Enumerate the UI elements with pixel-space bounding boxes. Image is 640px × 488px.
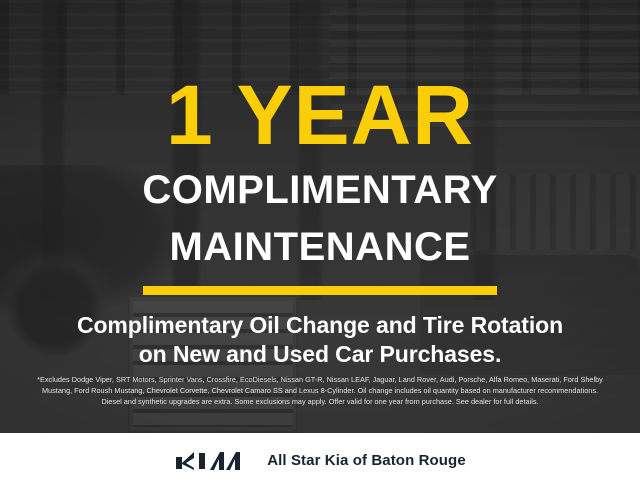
offer-description-line-2: on New and Used Car Purchases.: [139, 340, 502, 369]
offer-description-line-1: Complimentary Oil Change and Tire Rotati…: [77, 311, 563, 340]
headline-maintenance: MAINTENANCE: [169, 227, 470, 269]
hero-content: 1 YEAR COMPLIMENTARY MAINTENANCE Complim…: [0, 0, 640, 433]
footer-bar: All Star Kia of Baton Rouge: [0, 433, 640, 488]
accent-divider: [143, 286, 497, 295]
disclaimer-line-3: Diesel and synthetic upgrades are extra.…: [12, 396, 628, 407]
disclaimer-line-2: Mustang, Ford Roush Mustang, Chevrolet C…: [12, 385, 628, 396]
hero-section: 1 YEAR COMPLIMENTARY MAINTENANCE Complim…: [0, 0, 640, 433]
headline-duration: 1 YEAR: [166, 78, 474, 154]
promotional-banner: 1 YEAR COMPLIMENTARY MAINTENANCE Complim…: [0, 0, 640, 488]
kia-logo: [174, 451, 248, 471]
disclaimer-line-1: *Excludes Dodge Viper, SRT Motors, Sprin…: [12, 374, 628, 385]
headline-complimentary: COMPLIMENTARY: [142, 170, 497, 212]
dealer-name: All Star Kia of Baton Rouge: [267, 452, 466, 469]
disclaimer-text: *Excludes Dodge Viper, SRT Motors, Sprin…: [12, 374, 628, 407]
